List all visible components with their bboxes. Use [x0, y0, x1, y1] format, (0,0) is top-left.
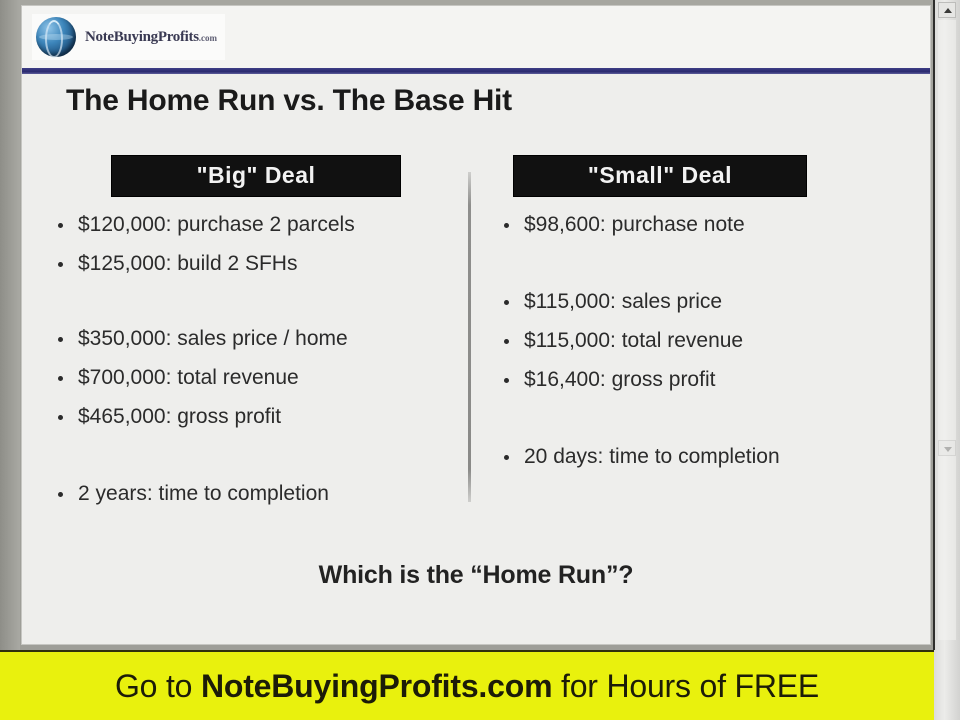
list-item: $125,000: build 2 SFHs: [50, 253, 470, 274]
header-divider-rule: [22, 68, 930, 74]
closing-question: Which is the “Home Run”?: [22, 561, 930, 590]
list-item: 2 years: time to completion: [50, 483, 470, 504]
slide-columns: "Big" Deal $120,000: purchase 2 parcels …: [22, 156, 930, 522]
bullet-list-small-deal: $98,600: purchase note $115,000: sales p…: [496, 214, 930, 467]
scroll-up-arrow-icon[interactable]: [938, 2, 956, 18]
list-item: 20 days: time to completion: [496, 446, 930, 467]
cta-text: Go to NoteBuyingProfits.com for Hours of…: [115, 668, 819, 705]
column-small-deal: "Small" Deal $98,600: purchase note $115…: [470, 156, 930, 522]
bullet-list-big-deal: $120,000: purchase 2 parcels $125,000: b…: [50, 214, 470, 504]
list-item: $115,000: total revenue: [496, 330, 930, 351]
brand-logo[interactable]: NoteBuyingProfits.com: [32, 14, 225, 60]
cta-banner[interactable]: Go to NoteBuyingProfits.com for Hours of…: [0, 650, 934, 720]
cta-prefix: Go to: [115, 668, 201, 704]
player-left-margin: [0, 0, 20, 650]
column-header-big-deal: "Big" Deal: [112, 156, 400, 196]
brand-name-text: NoteBuyingProfits: [85, 29, 199, 45]
presentation-slide: NoteBuyingProfits.com The Home Run vs. T…: [22, 6, 930, 644]
list-item: $98,600: purchase note: [496, 214, 930, 235]
list-item: $350,000: sales price / home: [50, 328, 470, 349]
cta-domain[interactable]: NoteBuyingProfits.com: [201, 668, 552, 704]
scrollbar-track[interactable]: [938, 20, 956, 640]
slide-title: The Home Run vs. The Base Hit: [66, 84, 512, 118]
column-header-small-deal: "Small" Deal: [514, 156, 806, 196]
globe-icon: [36, 17, 76, 57]
list-item: $700,000: total revenue: [50, 367, 470, 388]
column-big-deal: "Big" Deal $120,000: purchase 2 parcels …: [22, 156, 470, 522]
window-scrollbar[interactable]: [933, 0, 960, 720]
cta-suffix: for Hours of FREE: [552, 668, 819, 704]
brand-tld-text: .com: [199, 33, 217, 43]
list-item: $115,000: sales price: [496, 291, 930, 312]
brand-name: NoteBuyingProfits.com: [85, 29, 217, 46]
screenshot-root: NoteBuyingProfits.com The Home Run vs. T…: [0, 0, 960, 720]
list-item: $120,000: purchase 2 parcels: [50, 214, 470, 235]
list-item: $16,400: gross profit: [496, 369, 930, 390]
slide-header: NoteBuyingProfits.com: [22, 6, 930, 68]
scroll-down-arrow-icon[interactable]: [938, 440, 956, 456]
list-item: $465,000: gross profit: [50, 406, 470, 427]
